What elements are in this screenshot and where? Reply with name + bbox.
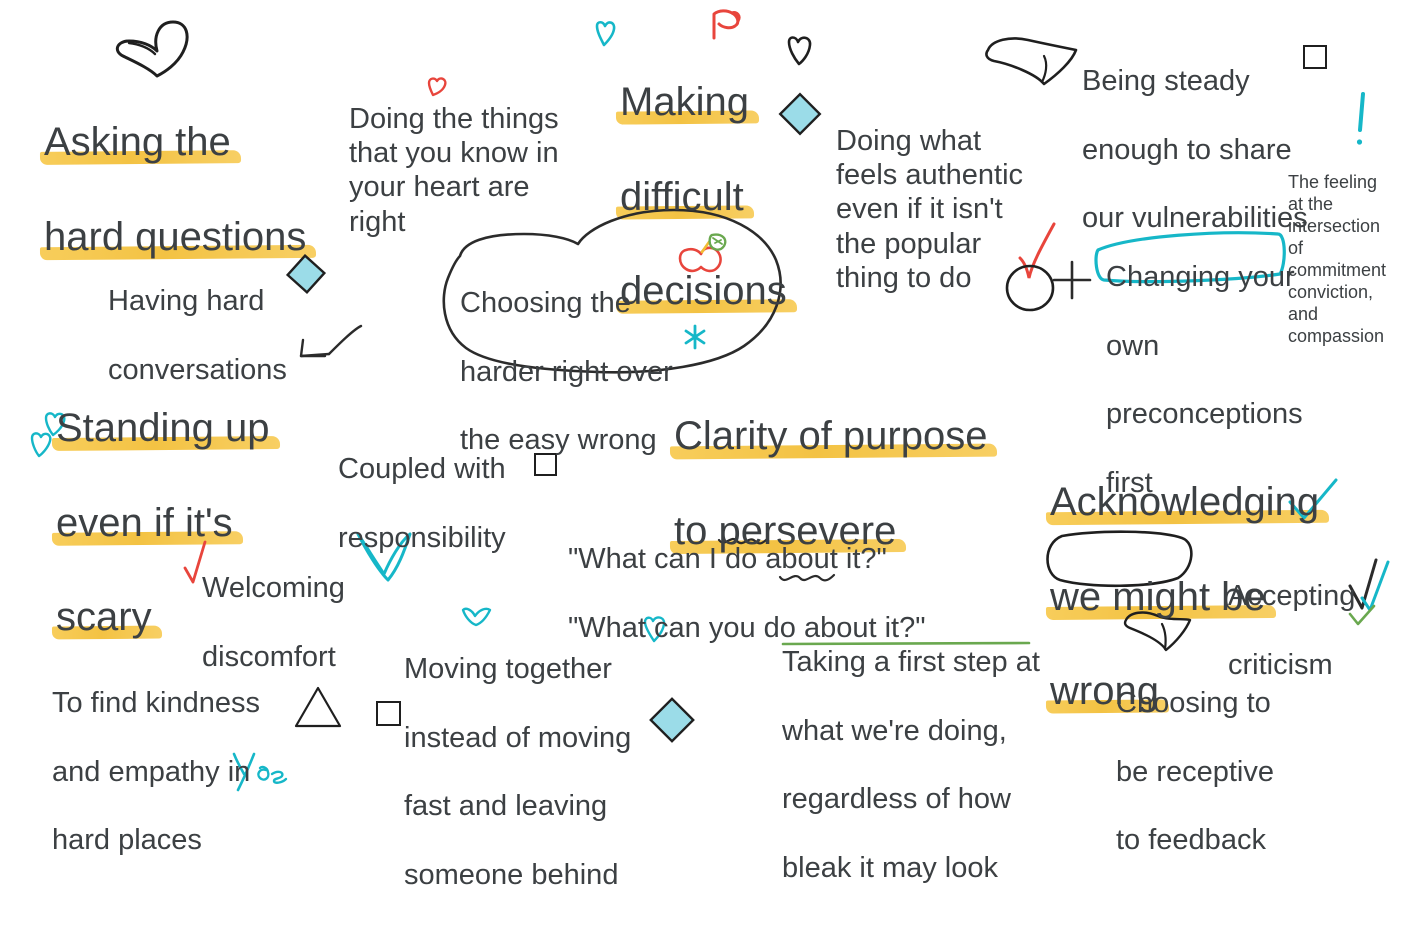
note-choosing-receptive-feedback[interactable]: Choosing to be receptive to feedback	[1116, 652, 1274, 892]
note-line: Accepting	[1228, 579, 1355, 613]
note-line: what we're doing,	[782, 714, 1040, 748]
note-line: Changing your	[1106, 260, 1303, 294]
whiteboard-canvas[interactable]: Asking the hard questions Doing the thin…	[0, 0, 1422, 800]
note-doing-things-you-know[interactable]: Doing the things that you know in your h…	[349, 102, 559, 239]
note-line: harder right over	[460, 355, 673, 389]
note-line: Clarity of purpose	[674, 413, 987, 460]
note-line: Taking a first step	[782, 646, 1008, 678]
note-line-suffix: at	[1008, 646, 1040, 678]
note-line: Coupled with	[338, 452, 506, 486]
note-line: be receptive	[1116, 755, 1274, 789]
note-line: Having hard	[108, 284, 287, 318]
diamond-cyan-icon	[644, 692, 700, 748]
heart-outline-red-icon	[424, 74, 452, 98]
note-line: Being steady	[1082, 64, 1308, 98]
note-line: someone behind	[404, 858, 631, 892]
note-line: fast and leaving	[404, 789, 631, 823]
heart-outline-black-icon	[980, 34, 1084, 100]
note-find-kindness-empathy[interactable]: To find kindness and empathy in hard pla…	[52, 652, 260, 892]
note-line: regardless of how	[782, 782, 1040, 816]
heart-outline-teal-icon	[593, 20, 619, 48]
note-line: Acknowledging	[1050, 479, 1319, 526]
exclamation-teal-icon	[1352, 92, 1372, 148]
note-line: Making	[620, 79, 749, 126]
note-doing-what-feels-authentic[interactable]: Doing what feels authentic even if it is…	[836, 124, 1023, 295]
note-line: preconceptions	[1106, 397, 1303, 431]
note-line: own	[1106, 329, 1303, 363]
note-moving-together[interactable]: Moving together instead of moving fast a…	[404, 618, 631, 926]
note-line: difficult	[620, 174, 744, 221]
note-line: Choosing the	[460, 286, 673, 320]
note-line: To find kindness	[52, 686, 260, 720]
note-line: and empathy in	[52, 755, 260, 789]
note-line: scary	[56, 594, 152, 641]
note-line: Welcoming	[202, 571, 345, 605]
note-line: Choosing to	[1116, 686, 1274, 720]
note-line: Asking the	[44, 119, 231, 166]
note-coupled-with-responsibility[interactable]: Coupled with responsibility	[338, 418, 506, 589]
note-line: bleak it may look	[782, 851, 1040, 885]
heart-outline-black-icon	[784, 34, 818, 68]
note-line: enough to share	[1082, 133, 1308, 167]
square-outline-icon	[375, 700, 403, 728]
note-taking-a-first-step[interactable]: Taking a first step at what we're doing,…	[782, 611, 1040, 919]
note-line: hard places	[52, 823, 260, 857]
arrow-doodle-icon	[295, 322, 367, 370]
note-feeling-intersection[interactable]: The feeling at the intersection of commi…	[1288, 172, 1418, 348]
note-line: "What can I do about it?"	[568, 542, 926, 576]
note-line: Standing up	[56, 405, 270, 452]
note-line: responsibility	[338, 521, 506, 555]
note-line: to feedback	[1116, 823, 1274, 857]
note-line: instead of moving	[404, 721, 631, 755]
note-line: Moving together	[404, 652, 631, 686]
